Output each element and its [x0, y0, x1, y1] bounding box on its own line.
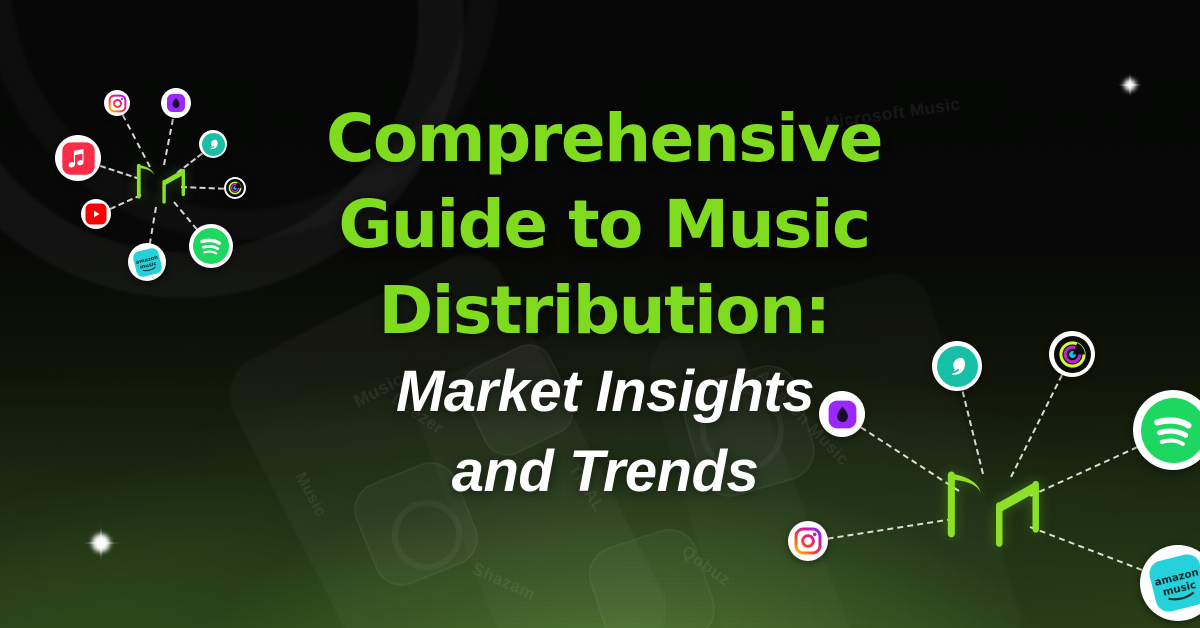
instagram-icon[interactable] [788, 521, 828, 561]
napster-icon[interactable] [1049, 331, 1095, 377]
music-notes-icon [929, 455, 1056, 568]
anghami-icon[interactable] [819, 391, 865, 437]
music-distribution-banner: MusicDeezerTIDALAmazon MusicQobuzShazamM… [0, 0, 1200, 628]
audiomack-icon[interactable] [932, 341, 982, 391]
right-platform-constellation: amazonmusic [0, 0, 1200, 628]
amazon-music-icon[interactable]: amazonmusic [1140, 545, 1200, 621]
spotify-icon[interactable] [1133, 390, 1200, 470]
